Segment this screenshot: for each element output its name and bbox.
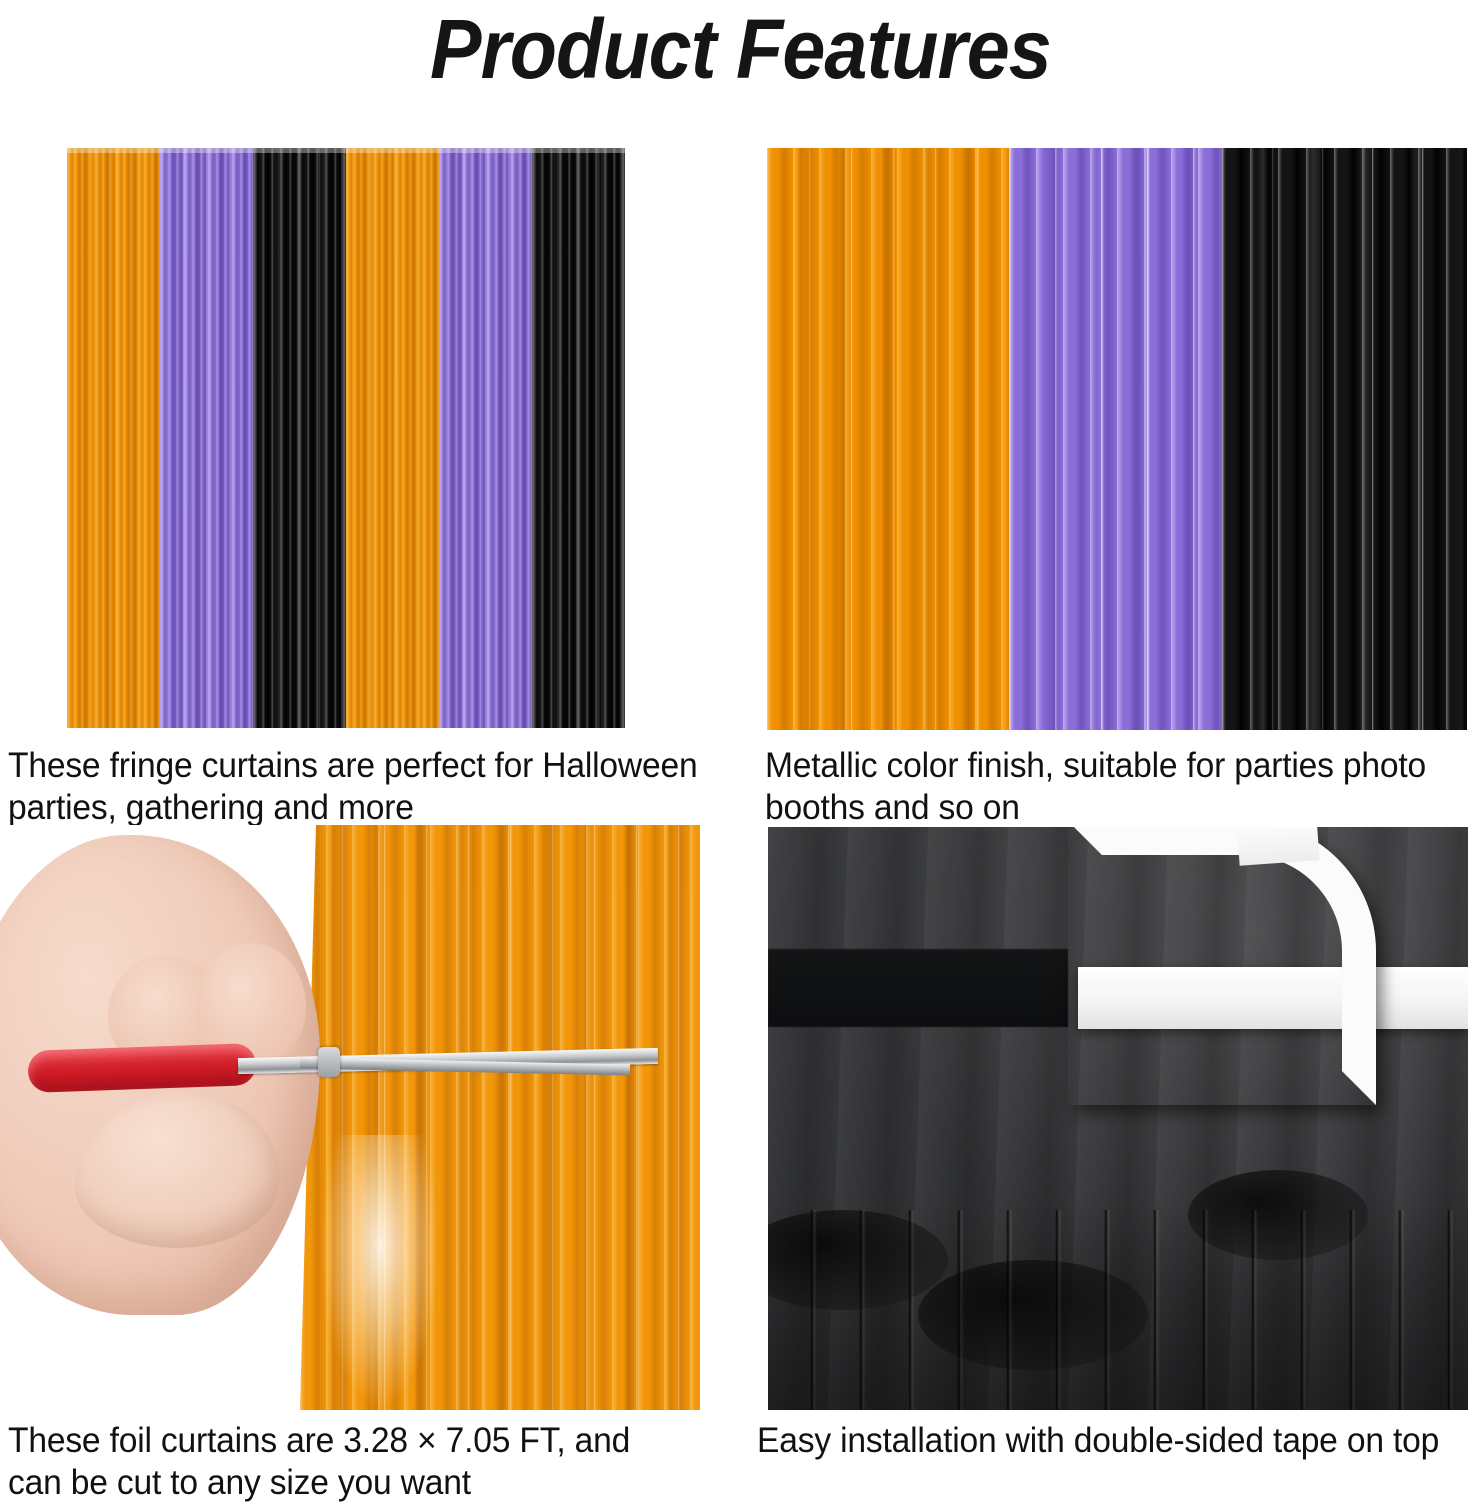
foil-striation-icon xyxy=(253,148,346,728)
curtain-top-edge xyxy=(768,949,1068,1027)
panel-cut-to-size-caption: These foil curtains are 3.28 × 7.05 FT, … xyxy=(8,1420,692,1504)
curtain-header-band xyxy=(346,148,439,153)
panel-fringe-curtain-set-caption: These fringe curtains are perfect for Ha… xyxy=(8,745,726,829)
curtain-strip-purple-1 xyxy=(160,148,253,728)
foil-striation-icon xyxy=(346,148,439,728)
foil-striation-icon xyxy=(439,148,532,728)
fringe-shading xyxy=(768,1200,1468,1410)
panel-double-sided-tape-caption: Easy installation with double-sided tape… xyxy=(757,1420,1452,1462)
panel-metallic-closeup-caption: Metallic color finish, suitable for part… xyxy=(765,745,1449,829)
foil-striation-icon xyxy=(300,825,700,1410)
curtain-strip-black-2 xyxy=(532,148,625,728)
curtain-header-band xyxy=(439,148,532,153)
foil-striation-icon xyxy=(67,148,160,728)
foil-striation-icon xyxy=(532,148,625,728)
panel-metallic-closeup-image xyxy=(767,148,1467,730)
foil-striation-icon xyxy=(1222,148,1467,730)
foil-striation-icon xyxy=(767,148,1009,730)
foil-striation-icon xyxy=(1009,148,1223,730)
tape-installation-scene xyxy=(768,827,1468,1410)
curtain-strip-purple-2 xyxy=(439,148,532,728)
curtain-header-band xyxy=(160,148,253,153)
orange-foil-curtain xyxy=(300,825,700,1410)
foil-striation-icon xyxy=(160,148,253,728)
curtain-header-band xyxy=(67,148,160,153)
fringe-curtain-illustration xyxy=(67,148,625,728)
foil-block-orange xyxy=(767,148,1009,730)
scissors-pivot-icon xyxy=(318,1047,340,1077)
tape-peeling-curl xyxy=(1068,827,1376,1105)
page-title: Product Features xyxy=(430,2,1051,96)
panel-double-sided-tape-image xyxy=(768,827,1468,1410)
scissors-cutting-scene xyxy=(0,825,700,1410)
header: Product Features xyxy=(0,0,1481,118)
curtain-strip-orange-1 xyxy=(67,148,160,728)
panel-cut-to-size-image xyxy=(0,825,700,1410)
scissors-handle-icon xyxy=(27,1043,256,1093)
foil-block-purple xyxy=(1009,148,1223,730)
curtain-header-band xyxy=(253,148,346,153)
curtain-header-band xyxy=(532,148,625,153)
panel-fringe-curtain-set-image xyxy=(67,148,625,728)
curtain-strip-black-1 xyxy=(253,148,346,728)
foil-block-black xyxy=(1222,148,1467,730)
curtain-strip-orange-2 xyxy=(346,148,439,728)
tape-free-end xyxy=(1236,827,1319,866)
metallic-foil-illustration xyxy=(767,148,1467,730)
